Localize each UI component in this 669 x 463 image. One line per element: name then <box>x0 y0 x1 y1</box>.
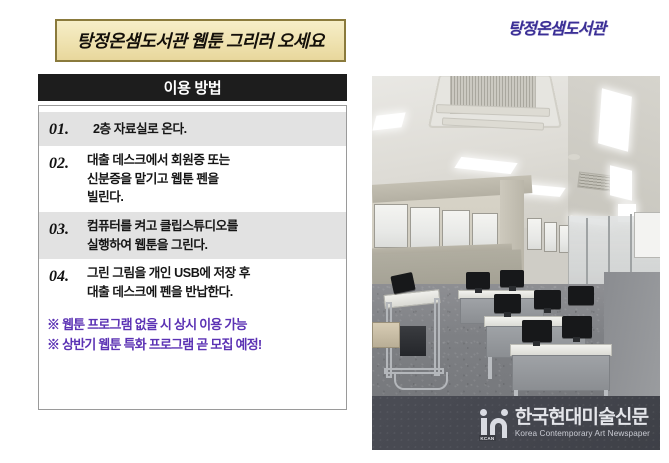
desk-modesty-panel <box>512 355 610 391</box>
chair <box>372 322 400 348</box>
window-pane <box>527 218 542 250</box>
step-text-line: 빌린다. <box>87 188 338 207</box>
monitor <box>534 290 561 309</box>
note-line: ※ 웹툰 프로그램 없을 시 상시 이용 가능 <box>47 315 342 336</box>
logo-dot-i <box>480 409 487 416</box>
newspaper-watermark-panel: KCAN 한국현대미술신문 Korea Contemporary Art New… <box>372 396 660 450</box>
monitor-stand <box>504 312 511 317</box>
step-number: 01. <box>49 117 87 141</box>
monitor <box>568 286 594 305</box>
step-item: 03. 컴퓨터를 켜고 클립스튜디오를 실행하여 웹툰을 그린다. <box>39 212 346 259</box>
step-text-line: 그린 그림을 개인 USB에 저장 후 <box>87 264 338 283</box>
window-pane <box>374 204 408 248</box>
section-header-label: 이용 방법 <box>164 77 222 98</box>
monitor <box>494 294 521 313</box>
ceiling-light <box>610 165 632 200</box>
step-number: 03. <box>49 217 87 241</box>
notes-block: ※ 웹툰 프로그램 없을 시 상시 이용 가능 ※ 상반기 웹툰 특화 프로그램… <box>39 315 346 357</box>
step-text-line: 컴퓨터를 켜고 클립스튜디오를 <box>87 217 338 236</box>
window-pane <box>544 222 557 252</box>
cart-equipment <box>400 326 426 356</box>
step-text: 컴퓨터를 켜고 클립스튜디오를 실행하여 웹툰을 그린다. <box>87 217 338 254</box>
step-text-line: 대출 데스크에 펜을 반납한다. <box>87 283 338 302</box>
step-text: 대출 데스크에서 회원증 또는 신분증을 맡기고 웹툰 펜을 빌린다. <box>87 151 338 207</box>
whiteboard <box>634 212 660 258</box>
window-pane <box>442 210 470 250</box>
in-logo-icon: KCAN <box>479 408 509 438</box>
computer-lab-photo <box>372 76 660 401</box>
desk-leg <box>488 357 492 379</box>
logo-dot-n <box>501 409 508 416</box>
ceiling-light <box>598 88 632 151</box>
monitor <box>500 270 524 287</box>
step-item: 04. 그린 그림을 개인 USB에 저장 후 대출 데스크에 펜을 반납한다. <box>39 259 346 306</box>
monitor <box>466 272 490 289</box>
step-text-line: 신분증을 맡기고 웹툰 펜을 <box>87 170 338 189</box>
library-wordmark: 탕정온샘도서관 <box>508 15 605 39</box>
monitor-stand <box>475 288 482 293</box>
step-text-line: 대출 데스크에서 회원증 또는 <box>87 151 338 170</box>
smoke-detector-icon <box>568 154 580 160</box>
step-number: 02. <box>49 151 87 175</box>
monitor-stand <box>573 337 580 342</box>
step-text: 2층 자료실로 온다. <box>87 117 338 139</box>
logo-kcan-label: KCAN <box>479 435 496 441</box>
newspaper-name-en: Korea Contemporary Art Newspaper <box>515 430 650 438</box>
usage-steps-panel: 01. 2층 자료실로 온다. 02. 대출 데스크에서 회원증 또는 신분증을… <box>38 105 347 410</box>
step-text-line: 실행하여 웹툰을 그린다. <box>87 236 338 255</box>
step-item: 01. 2층 자료실로 온다. <box>39 112 346 146</box>
newspaper-name-block: 한국현대미술신문 Korea Contemporary Art Newspape… <box>515 408 650 438</box>
note-line: ※ 상반기 웹툰 특화 프로그램 곧 모집 예정! <box>47 335 342 356</box>
monitor-stand <box>533 341 540 346</box>
newspaper-name-ko: 한국현대미술신문 <box>515 408 650 427</box>
monitor-stand <box>509 286 516 291</box>
step-number: 04. <box>49 264 87 288</box>
floor-aisle <box>604 272 660 401</box>
step-text: 그린 그림을 개인 USB에 저장 후 대출 데스크에 펜을 반납한다. <box>87 264 338 301</box>
window-pane <box>410 207 440 249</box>
usage-section-header: 이용 방법 <box>38 74 347 101</box>
newspaper-logo: KCAN 한국현대미술신문 Korea Contemporary Art New… <box>479 408 650 438</box>
cart-base <box>394 372 448 390</box>
cart-frame <box>434 298 440 376</box>
slide-title-banner: 탕정온샘도서관 웹툰 그리러 오세요 <box>55 19 346 62</box>
partition-mullion <box>586 218 588 292</box>
monitor <box>522 320 552 342</box>
monitor-stand <box>544 308 551 313</box>
step-item: 02. 대출 데스크에서 회원증 또는 신분증을 맡기고 웹툰 펜을 빌린다. <box>39 146 346 212</box>
monitor <box>562 316 592 338</box>
step-text-line: 2층 자료실로 온다. <box>93 120 338 139</box>
page-title: 탕정온샘도서관 웹툰 그리러 오세요 <box>77 28 324 53</box>
